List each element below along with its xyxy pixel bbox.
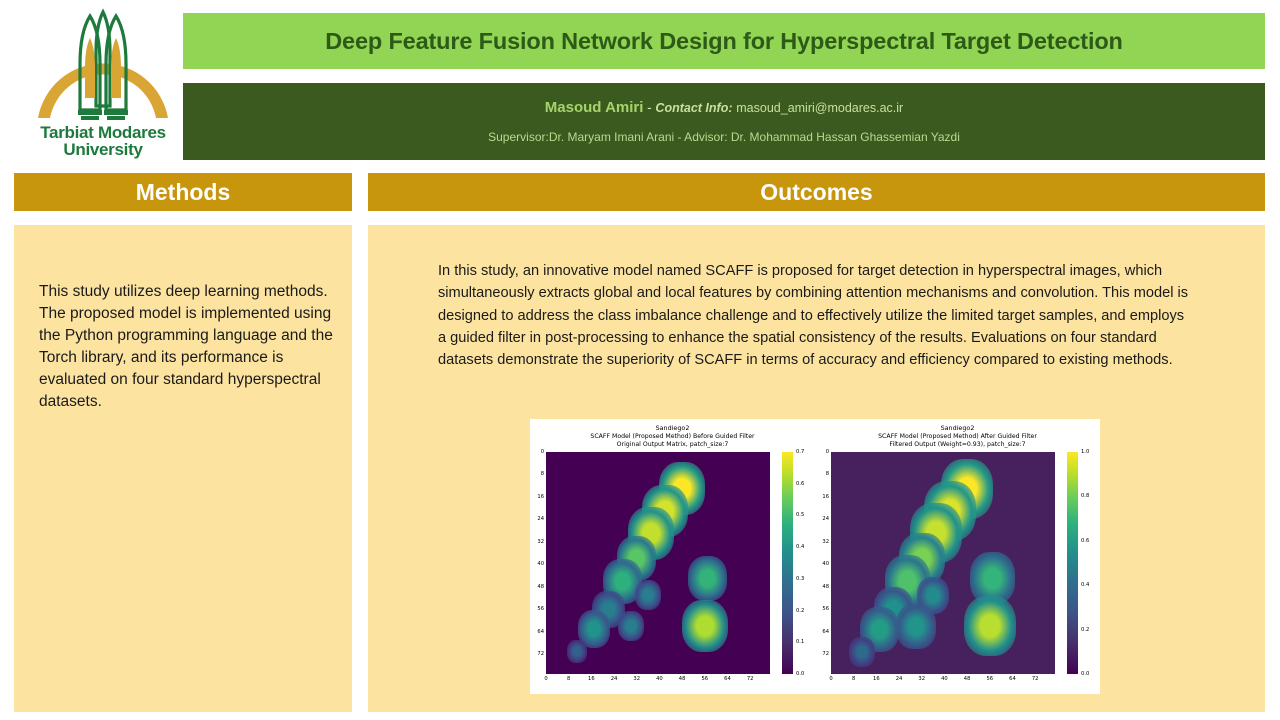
colorbar-tick-label: 0.1 (796, 639, 804, 645)
axis-tick-label: 48 (964, 676, 971, 682)
axis-tick-label: 24 (822, 516, 829, 522)
colorbar-tick-label: 0.2 (796, 608, 804, 614)
axis-tick-label: 56 (701, 676, 708, 682)
heatmap-before-guided-filter: Sandiego2 SCAFF Model (Proposed Method) … (530, 419, 815, 694)
axis-tick-label: 16 (822, 494, 829, 500)
heatmap-after-x-axis: 081624324048566472 (831, 676, 1055, 688)
university-logo-text: Tarbiat Modares University (18, 124, 188, 159)
colorbar-tick-label: 0.8 (1081, 493, 1089, 499)
axis-tick-label: 40 (537, 561, 544, 567)
colorbar-tick-label: 0.7 (796, 449, 804, 455)
colorbar-tick-label: 0.0 (1081, 671, 1089, 677)
university-logo-icon (18, 6, 188, 126)
author-band: Masoud Amiri - Contact Info: masoud_amir… (183, 83, 1265, 160)
heatmap-after-title: Sandiego2 SCAFF Model (Proposed Method) … (815, 424, 1100, 450)
section-header-outcomes-label: Outcomes (760, 179, 872, 206)
heatmap-before-title-line2: SCAFF Model (Proposed Method) Before Gui… (530, 433, 815, 442)
axis-tick-label: 8 (826, 471, 829, 477)
poster-title-bar: Deep Feature Fusion Network Design for H… (183, 13, 1265, 69)
axis-tick-label: 32 (918, 676, 925, 682)
axis-tick-label: 48 (679, 676, 686, 682)
heatmap-before-x-axis: 081624324048566472 (546, 676, 770, 688)
axis-tick-label: 40 (656, 676, 663, 682)
axis-tick-label: 16 (588, 676, 595, 682)
panel-methods: This study utilizes deep learning method… (14, 225, 352, 712)
colorbar-tick-label: 0.6 (796, 481, 804, 487)
results-figure: Sandiego2 SCAFF Model (Proposed Method) … (530, 419, 1100, 694)
outcomes-body-text: In this study, an innovative model named… (438, 260, 1190, 372)
axis-tick-label: 24 (537, 516, 544, 522)
colorbar-tick-label: 0.6 (1081, 538, 1089, 544)
heatmap-before-plot-area (546, 452, 770, 674)
colorbar-tick-label: 0.4 (1081, 582, 1089, 588)
author-dash: - (643, 100, 655, 115)
heatmap-target-blob (896, 604, 935, 649)
axis-tick-label: 64 (1009, 676, 1016, 682)
heatmap-after-title-line2: SCAFF Model (Proposed Method) After Guid… (815, 433, 1100, 442)
contact-email[interactable]: masoud_amiri@modares.ac.ir (736, 101, 903, 115)
author-contact-line: Masoud Amiri - Contact Info: masoud_amir… (545, 99, 903, 116)
heatmap-after-guided-filter: Sandiego2 SCAFF Model (Proposed Method) … (815, 419, 1100, 694)
heatmap-target-blob (635, 580, 661, 610)
heatmap-target-blob (682, 600, 728, 652)
heatmap-after-y-axis: 081624324048566472 (815, 452, 829, 674)
axis-tick-label: 72 (1032, 676, 1039, 682)
axis-tick-label: 8 (541, 471, 544, 477)
axis-tick-label: 40 (941, 676, 948, 682)
heatmap-before-title-line3: Original Output Matrix, patch_size:7 (530, 441, 815, 450)
axis-tick-label: 24 (611, 676, 618, 682)
colorbar-tick-label: 0.5 (796, 512, 804, 518)
heatmap-target-blob (849, 637, 875, 667)
methods-body-text: This study utilizes deep learning method… (39, 281, 334, 413)
heatmap-target-blob (567, 640, 587, 662)
heatmap-after-colorbar-ticks: 0.00.20.40.60.81.0 (1067, 452, 1107, 674)
axis-tick-label: 56 (537, 606, 544, 612)
panel-outcomes: In this study, an innovative model named… (368, 225, 1265, 712)
heatmap-after-title-line1: Sandiego2 (815, 424, 1100, 433)
heatmap-target-blob (618, 611, 644, 641)
colorbar-tick-label: 1.0 (1081, 449, 1089, 455)
section-header-methods: Methods (14, 173, 352, 211)
axis-tick-label: 64 (724, 676, 731, 682)
axis-tick-label: 16 (537, 494, 544, 500)
logo-line-2: University (18, 141, 188, 158)
axis-tick-label: 72 (747, 676, 754, 682)
axis-tick-label: 40 (822, 561, 829, 567)
axis-tick-label: 16 (873, 676, 880, 682)
page-title: Deep Feature Fusion Network Design for H… (325, 28, 1123, 55)
contact-info-label: Contact Info: (655, 101, 732, 115)
axis-tick-label: 64 (822, 629, 829, 635)
axis-tick-label: 8 (852, 676, 855, 682)
axis-tick-label: 0 (541, 449, 544, 455)
logo-line-1: Tarbiat Modares (18, 124, 188, 141)
axis-tick-label: 72 (537, 651, 544, 657)
axis-tick-label: 48 (537, 584, 544, 590)
heatmap-target-blob (964, 596, 1016, 656)
axis-tick-label: 0 (826, 449, 829, 455)
colorbar-tick-label: 0.4 (796, 544, 804, 550)
heatmap-before-title: Sandiego2 SCAFF Model (Proposed Method) … (530, 424, 815, 450)
axis-tick-label: 64 (537, 629, 544, 635)
supervisor-advisor-line: Supervisor:Dr. Maryam Imani Arani - Advi… (488, 130, 960, 144)
axis-tick-label: 48 (822, 584, 829, 590)
axis-tick-label: 24 (896, 676, 903, 682)
poster-canvas: Tarbiat Modares University Deep Feature … (0, 0, 1280, 720)
colorbar-tick-label: 0.2 (1081, 627, 1089, 633)
section-header-outcomes: Outcomes (368, 173, 1265, 211)
axis-tick-label: 56 (986, 676, 993, 682)
axis-tick-label: 32 (633, 676, 640, 682)
axis-tick-label: 56 (822, 606, 829, 612)
colorbar-tick-label: 0.3 (796, 576, 804, 582)
axis-tick-label: 72 (822, 651, 829, 657)
axis-tick-label: 32 (822, 539, 829, 545)
section-header-methods-label: Methods (136, 179, 231, 206)
heatmap-target-blob (688, 556, 727, 601)
axis-tick-label: 0 (829, 676, 832, 682)
axis-tick-label: 32 (537, 539, 544, 545)
heatmap-before-title-line1: Sandiego2 (530, 424, 815, 433)
university-logo: Tarbiat Modares University (18, 6, 188, 164)
colorbar-tick-label: 0.0 (796, 671, 804, 677)
axis-tick-label: 8 (567, 676, 570, 682)
heatmap-after-plot-area (831, 452, 1055, 674)
heatmap-before-y-axis: 081624324048566472 (530, 452, 544, 674)
axis-tick-label: 0 (544, 676, 547, 682)
heatmap-after-title-line3: Filtered Output (Weight=0.93), patch_siz… (815, 441, 1100, 450)
author-name: Masoud Amiri (545, 99, 644, 116)
